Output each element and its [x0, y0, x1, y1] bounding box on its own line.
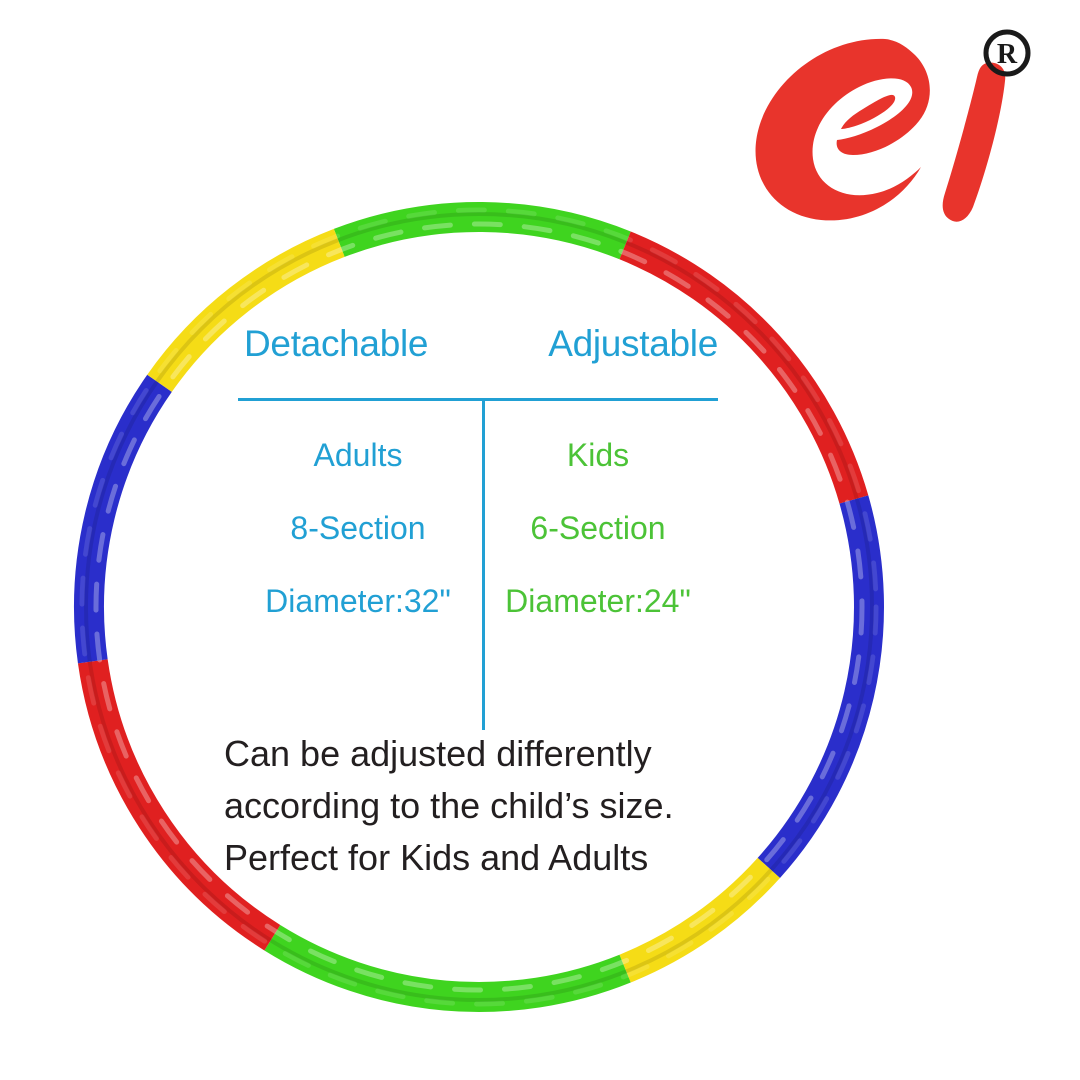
cell-audience-kids: Kids [478, 436, 718, 474]
comparison-table-body: Adults Kids 8-Section 6-Section Diameter… [238, 418, 718, 637]
logo-letter-e [756, 39, 930, 221]
cell-sections-kids: 6-Section [478, 509, 718, 547]
comparison-table-horizontal-rule [238, 398, 718, 401]
registered-trademark-icon: R [986, 32, 1028, 74]
table-row: Diameter:32" Diameter:24" [238, 564, 718, 637]
cell-sections-adults: 8-Section [238, 509, 478, 547]
comparison-header-adjustable: Adjustable [548, 322, 718, 366]
hoop-segment-left-blue [89, 383, 160, 661]
comparison-header-detachable: Detachable [244, 322, 428, 366]
comparison-table-header-row: Detachable Adjustable [238, 322, 718, 380]
cell-diameter-adults: Diameter:32" [238, 582, 478, 620]
cell-audience-adults: Adults [238, 436, 478, 474]
product-infographic: R Detachable Adjustable Adults Kids 8-Se… [0, 0, 1080, 1080]
caption-line-2: according to the child’s size. [224, 780, 744, 832]
caption-line-1: Can be adjusted differently [224, 728, 744, 780]
table-row: 8-Section 6-Section [238, 491, 718, 564]
comparison-table: Detachable Adjustable Adults Kids 8-Sect… [238, 322, 718, 732]
logo-letter-l [943, 63, 1006, 222]
brand-logo: R [735, 25, 1045, 230]
caption-line-3: Perfect for Kids and Adults [224, 832, 744, 884]
cell-diameter-kids: Diameter:24" [478, 582, 718, 620]
svg-text:R: R [997, 39, 1018, 70]
product-caption: Can be adjusted differently according to… [224, 728, 744, 884]
table-row: Adults Kids [238, 418, 718, 491]
